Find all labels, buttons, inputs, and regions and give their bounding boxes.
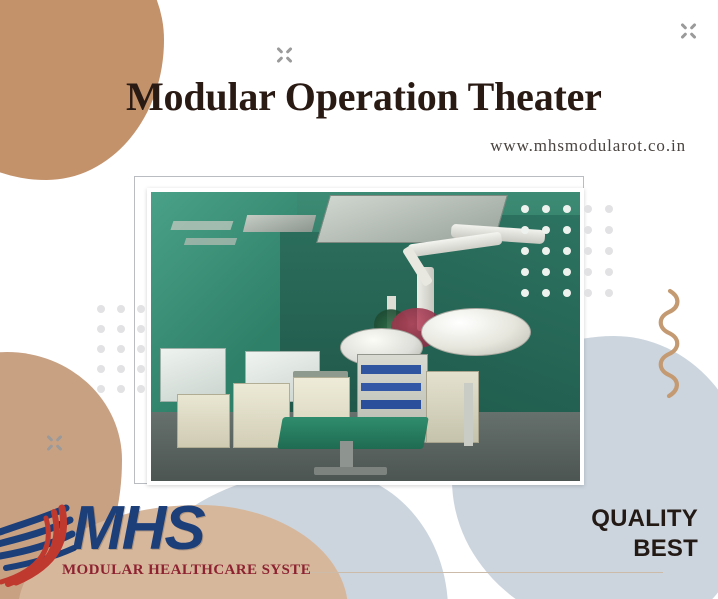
photo-cart-tray-2	[361, 383, 421, 392]
grid-dot	[584, 205, 592, 213]
grid-dot	[605, 289, 613, 297]
grid-dot	[563, 247, 571, 255]
grid-dot	[137, 305, 145, 313]
grid-dot	[521, 247, 529, 255]
poster-canvas: Modular Operation Theater www.mhsmodular…	[0, 0, 718, 599]
photo-cart-tray-1	[361, 365, 421, 374]
logo-tagline: MODULAR HEALTHCARE SYSTE	[62, 562, 311, 579]
photo-ceiling-duct-2	[184, 238, 238, 245]
sparkle-icon	[678, 20, 700, 42]
grid-dot	[542, 205, 550, 213]
grid-dot	[117, 365, 125, 373]
grid-dot	[137, 345, 145, 353]
page-title: Modular Operation Theater	[126, 76, 686, 118]
grid-dot	[542, 289, 550, 297]
photo-ceiling-duct	[171, 221, 234, 230]
grid-dot	[584, 226, 592, 234]
photo-table-base	[314, 467, 387, 476]
dot-grid-right	[521, 205, 613, 297]
photo-surgical-light-large	[421, 308, 530, 356]
grid-dot	[605, 205, 613, 213]
grid-dot	[605, 268, 613, 276]
grid-dot	[117, 325, 125, 333]
logo-wordmark: MHS	[72, 498, 204, 560]
grid-dot	[137, 365, 145, 373]
grid-dot	[97, 305, 105, 313]
grid-dot	[137, 325, 145, 333]
grid-dot	[117, 345, 125, 353]
sparkle-icon	[44, 432, 66, 454]
grid-dot	[542, 247, 550, 255]
grid-dot	[521, 268, 529, 276]
grid-dot	[521, 205, 529, 213]
photo-cart-tray-3	[361, 400, 421, 409]
grid-dot	[563, 226, 571, 234]
grid-dot	[605, 247, 613, 255]
quality-line-2: BEST	[540, 534, 698, 564]
quality-best-text: QUALITY BEST	[540, 504, 698, 564]
grid-dot	[584, 247, 592, 255]
grid-dot	[97, 345, 105, 353]
grid-dot	[117, 385, 125, 393]
squiggle-decoration	[650, 288, 684, 400]
grid-dot	[542, 226, 550, 234]
grid-dot	[97, 385, 105, 393]
grid-dot	[97, 365, 105, 373]
grid-dot	[584, 289, 592, 297]
grid-dot	[563, 205, 571, 213]
photo-iv-stand	[464, 383, 473, 447]
grid-dot	[521, 226, 529, 234]
photo-ceiling-panel-small	[243, 215, 316, 232]
sparkle-icon	[274, 44, 296, 66]
photo-operating-table	[277, 417, 428, 449]
grid-dot	[605, 226, 613, 234]
quality-line-1: QUALITY	[540, 504, 698, 534]
mhs-logo[interactable]: MHS MODULAR HEALTHCARE SYSTE	[0, 496, 300, 591]
grid-dot	[97, 325, 105, 333]
grid-dot	[117, 305, 125, 313]
grid-dot	[563, 289, 571, 297]
photo-cabinet-1	[177, 394, 230, 448]
bottom-divider	[285, 572, 663, 573]
grid-dot	[563, 268, 571, 276]
website-url: www.mhsmodularot.co.in	[126, 136, 686, 156]
grid-dot	[584, 268, 592, 276]
grid-dot	[521, 289, 529, 297]
grid-dot	[542, 268, 550, 276]
dot-grid-left	[97, 305, 145, 393]
photo-card	[147, 188, 584, 485]
operation-theater-photo	[151, 192, 580, 481]
grid-dot	[137, 385, 145, 393]
